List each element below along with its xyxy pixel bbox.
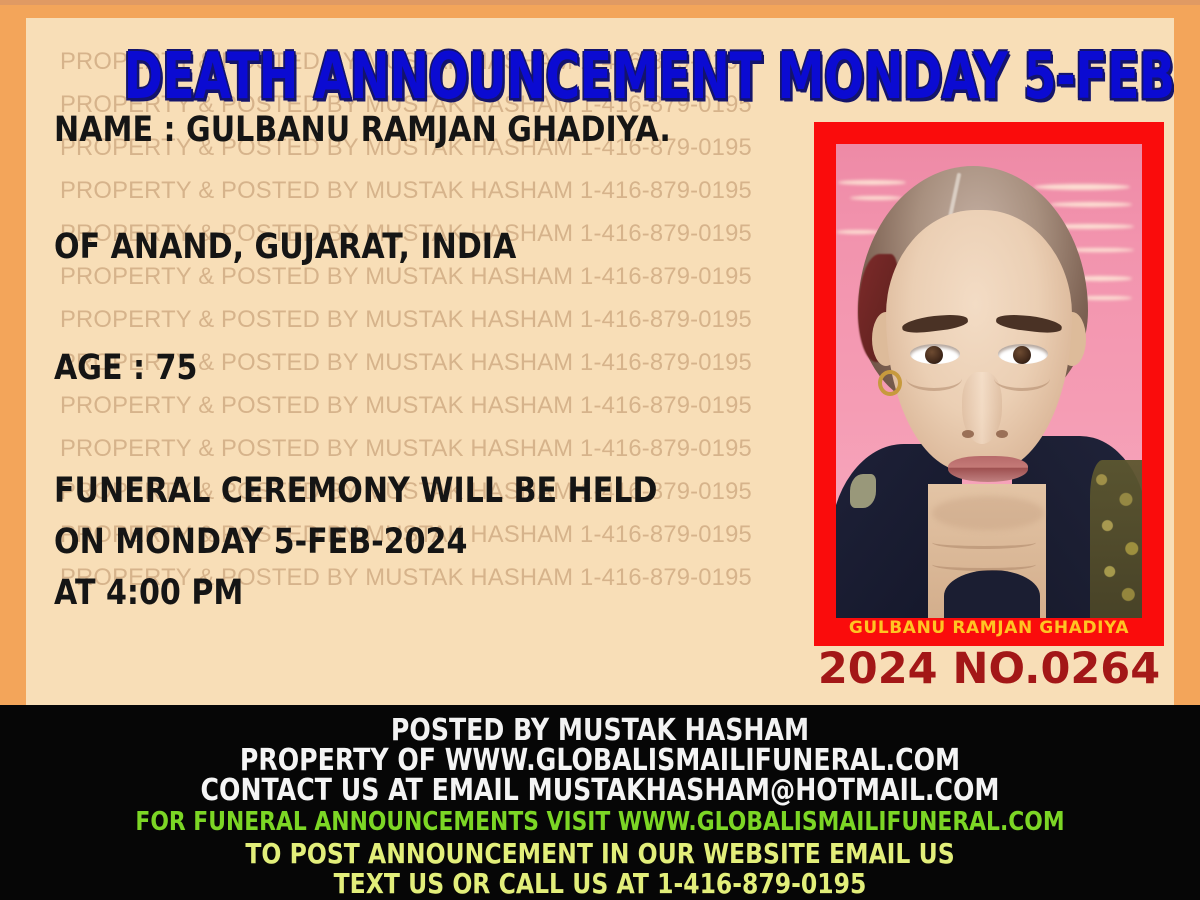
garment-pattern-accent — [850, 474, 876, 508]
cloud-streak-icon — [838, 180, 906, 185]
footer-line-phone: TEXT US OR CALL US AT 1-416-879-0195 — [96, 867, 1104, 900]
page-title: DEATH ANNOUNCEMENT MONDAY 5-FEB-2024 — [124, 40, 1077, 114]
portrait-nostril-right — [996, 430, 1008, 438]
cloud-streak-icon — [1034, 184, 1130, 190]
cloud-streak-icon — [850, 196, 902, 200]
top-border-hairline — [0, 0, 1200, 5]
portrait-chin-shading — [932, 496, 1044, 530]
portrait-photo-frame — [814, 122, 1164, 646]
footer-line-visit-site: FOR FUNERAL ANNOUNCEMENTS VISIT WWW.GLOB… — [96, 807, 1104, 837]
death-announcement-poster: PROPERTY & POSTED BY MUSTAK HASHAM 1-416… — [0, 0, 1200, 900]
portrait-undereye-left — [906, 366, 962, 391]
detail-line-name: NAME : GULBANU RAMJAN GHADIYA. — [54, 110, 733, 150]
detail-line-place: OF ANAND, GUJARAT, INDIA — [54, 227, 733, 267]
footer-line-post-info: TO POST ANNOUNCEMENT IN OUR WEBSITE EMAI… — [96, 837, 1104, 870]
detail-line-age: AGE : 75 — [54, 348, 733, 388]
garment-neckline — [944, 570, 1040, 618]
portrait-iris-left — [925, 346, 943, 364]
portrait-lips — [948, 456, 1028, 482]
detail-line-funeral-day: ON MONDAY 5-FEB-2024 — [54, 522, 733, 562]
portrait-photo — [836, 144, 1142, 618]
detail-line-funeral-time: AT 4:00 PM — [54, 573, 733, 613]
footer-line-email: CONTACT US AT EMAIL MUSTAKHASHAM@HOTMAIL… — [96, 773, 1104, 808]
portrait-eye-right — [998, 344, 1048, 364]
portrait-caption: GULBANU RAMJAN GHADIYA — [814, 618, 1164, 638]
footer-contact-band: POSTED BY MUSTAK HASHAM PROPERTY OF WWW.… — [0, 705, 1200, 900]
portrait-eye-left — [910, 344, 960, 364]
cloud-streak-icon — [1050, 202, 1132, 207]
portrait-neck-crease — [932, 536, 1036, 549]
cloud-streak-icon — [836, 230, 880, 234]
detail-line-funeral: FUNERAL CEREMONY WILL BE HELD — [54, 471, 733, 511]
portrait-undereye-right — [994, 366, 1050, 391]
portrait-nostril-left — [962, 430, 974, 438]
garment-embroidery — [1090, 460, 1142, 618]
earring-icon — [878, 370, 902, 396]
announcement-details: NAME : GULBANU RAMJAN GHADIYA. OF ANAND,… — [54, 110, 844, 613]
reference-number: 2024 NO.0264 — [814, 644, 1164, 694]
portrait-neck-crease — [932, 558, 1036, 571]
portrait-iris-right — [1013, 346, 1031, 364]
